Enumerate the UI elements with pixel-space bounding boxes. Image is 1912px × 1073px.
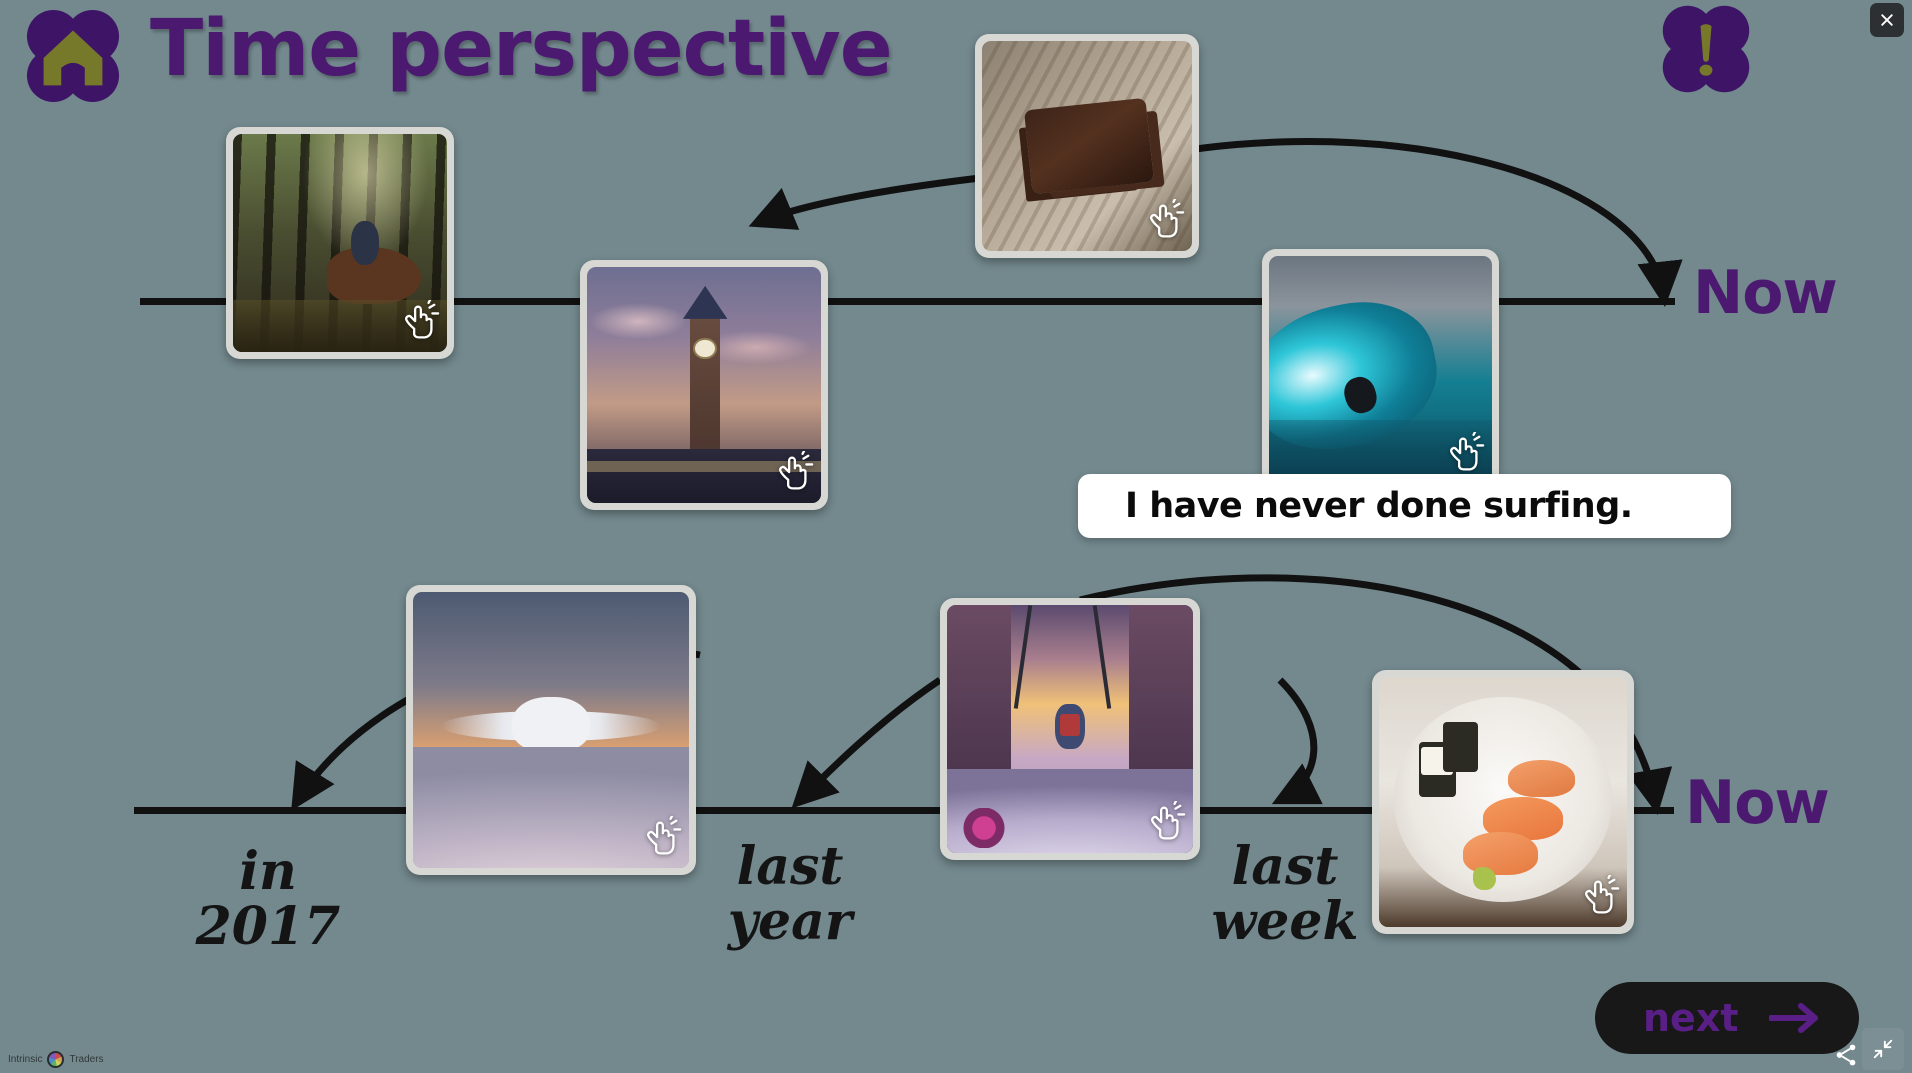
watermark-right-text: Traders [69, 1054, 103, 1065]
hand-tap-icon [1575, 875, 1621, 921]
time-label-line2: year [700, 895, 880, 950]
hand-tap-icon [1440, 432, 1486, 478]
fullscreen-exit-button[interactable] [1862, 1028, 1904, 1070]
share-icon[interactable] [1833, 1042, 1859, 1068]
time-label-in-2017: in 2017 [188, 845, 348, 954]
hand-tap-icon [769, 451, 815, 497]
watermark: Intrinsic Traders [8, 1051, 104, 1068]
tooltip-surfing: I have never done surfing. [1078, 474, 1731, 538]
slide-canvas: Time perspective [0, 0, 1912, 1073]
arrow-right-icon [1769, 1001, 1825, 1035]
next-button[interactable]: next [1595, 982, 1859, 1054]
time-label-line1: in [188, 845, 348, 900]
home-clover-icon [24, 6, 122, 106]
time-label-line2: week [1185, 895, 1385, 950]
hand-tap-icon [1140, 199, 1186, 245]
page-title: Time perspective [150, 4, 892, 94]
hand-tap-icon [1141, 801, 1187, 847]
card-bungee-swing-canyon[interactable] [940, 598, 1200, 860]
card-sushi-plate[interactable] [1372, 670, 1634, 934]
card-airplane-above-clouds[interactable] [406, 585, 696, 875]
time-label-last-year: last year [700, 840, 880, 949]
card-surfing-wave[interactable] [1262, 249, 1499, 491]
close-icon [1879, 12, 1895, 28]
card-horseback-riding[interactable] [226, 127, 454, 359]
watermark-logo-icon [47, 1051, 64, 1068]
card-big-ben-london[interactable] [580, 260, 828, 510]
now-label-top: Now [1693, 258, 1837, 328]
hand-tap-icon [395, 300, 441, 346]
watermark-left-text: Intrinsic [8, 1054, 42, 1065]
hand-tap-icon [637, 816, 683, 862]
time-label-line1: last [1185, 840, 1385, 895]
tooltip-text: I have never done surfing. [1125, 486, 1633, 526]
time-label-line2: 2017 [188, 900, 348, 955]
exclamation-clover-icon [1660, 0, 1752, 98]
time-label-last-week: last week [1185, 840, 1385, 949]
close-button[interactable] [1870, 3, 1904, 37]
next-button-label: next [1643, 996, 1739, 1040]
time-label-line1: last [700, 840, 880, 895]
now-label-bottom: Now [1685, 768, 1829, 838]
card-chocolate-pieces[interactable] [975, 34, 1199, 258]
fullscreen-exit-icon [1872, 1038, 1894, 1060]
